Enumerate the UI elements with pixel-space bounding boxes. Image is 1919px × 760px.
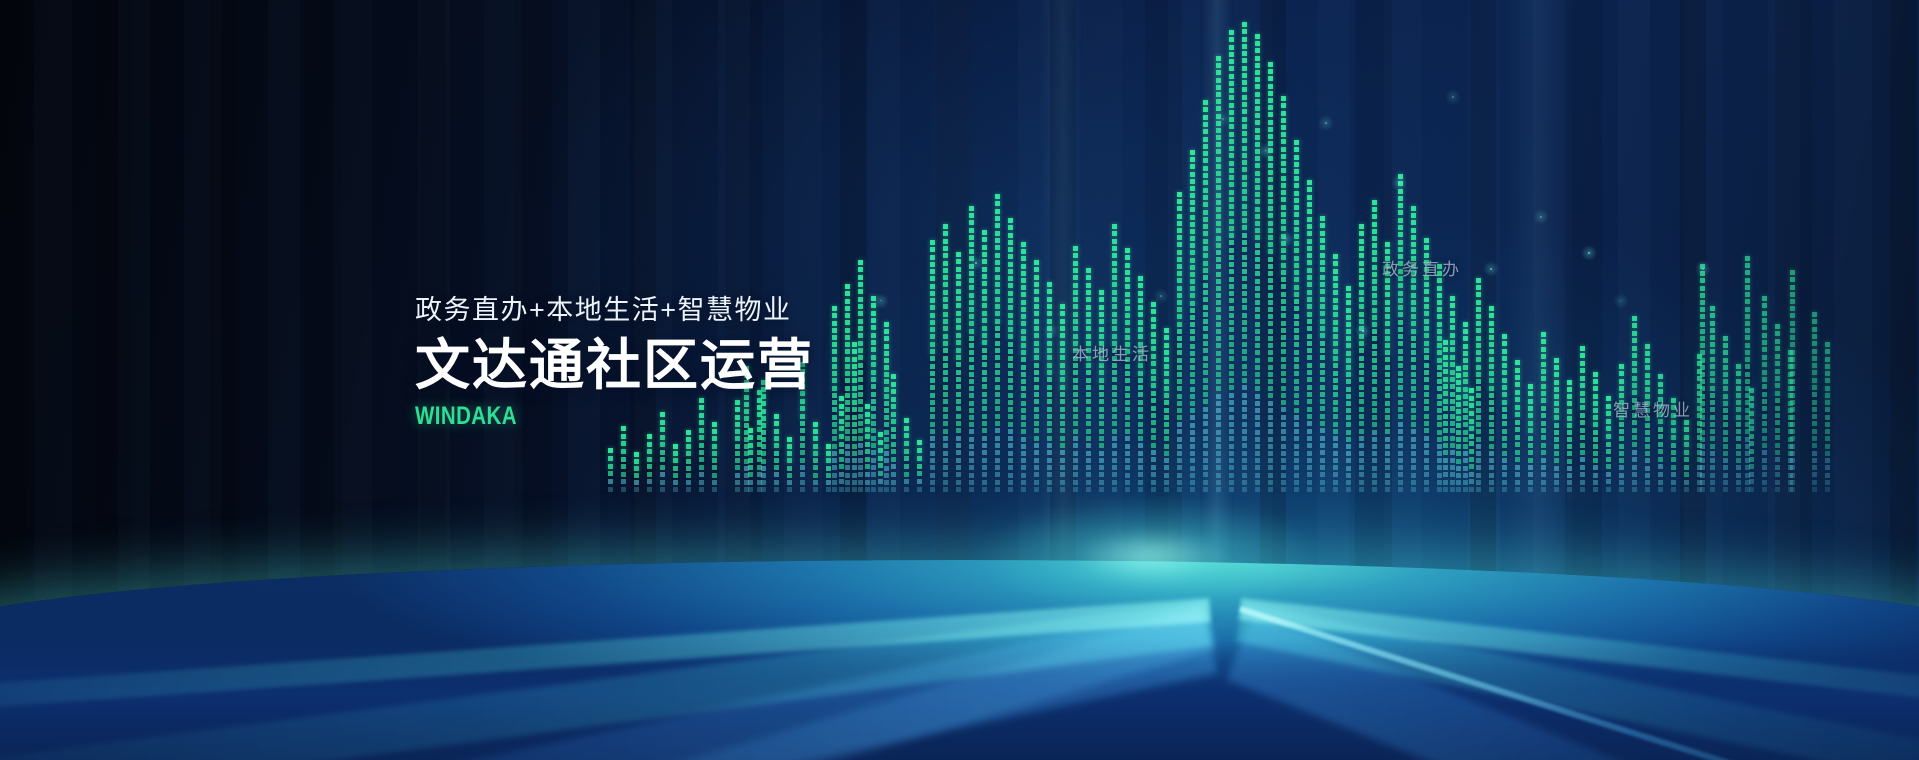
skyline-column xyxy=(1177,192,1186,492)
skyline-column xyxy=(647,434,656,492)
skyline-column xyxy=(1398,174,1407,492)
skyline-column xyxy=(956,252,965,492)
promo-banner: 政务直办+本地生活+智慧物业 文达通社区运营 WINDAKA 政务直办本地生活智… xyxy=(0,0,1919,760)
page-title: 文达通社区运营 xyxy=(415,336,814,395)
skyline-column xyxy=(832,306,841,492)
skyline-column xyxy=(1255,34,1264,492)
skyline-column xyxy=(1359,224,1368,492)
skyline-column xyxy=(858,260,867,492)
skyline-column xyxy=(1307,180,1316,492)
city-label-2: 本地生活 xyxy=(1072,340,1152,365)
skyline-column xyxy=(1138,276,1147,492)
skyline-column xyxy=(1294,140,1303,492)
skyline-column xyxy=(1762,296,1771,492)
skyline-column xyxy=(969,206,978,492)
skyline-column xyxy=(1242,22,1251,492)
skyline-column xyxy=(1736,364,1745,492)
ground-lower-fade xyxy=(0,640,1919,760)
skyline-column xyxy=(1216,56,1225,492)
skyline-column xyxy=(608,448,617,492)
skyline-column xyxy=(1268,62,1277,492)
skyline-column xyxy=(1790,270,1799,492)
skyline-column xyxy=(943,224,952,492)
skyline-column xyxy=(1812,312,1821,492)
skyline-column xyxy=(787,437,796,492)
brand-wordmark: WINDAKA xyxy=(415,402,742,431)
subtitle: 政务直办+本地生活+智慧物业 xyxy=(415,288,814,327)
skyline-column xyxy=(1541,332,1550,492)
city-label-1: 政务直办 xyxy=(1382,255,1462,280)
skyline-column xyxy=(1021,242,1030,492)
skyline-column xyxy=(1190,150,1199,492)
skyline-column xyxy=(871,296,880,492)
skyline-column xyxy=(982,230,991,492)
skyline-column xyxy=(1047,282,1056,492)
skyline-column xyxy=(1099,290,1108,492)
skyline-column xyxy=(1203,100,1212,492)
skyline-column xyxy=(1469,388,1478,492)
skyline-column xyxy=(917,440,926,492)
skyline-column xyxy=(1528,384,1537,492)
skyline-column xyxy=(1700,264,1709,492)
skyline-column xyxy=(930,240,939,492)
skyline-column xyxy=(1164,328,1173,492)
skyline-column xyxy=(904,418,913,492)
skyline-column xyxy=(621,426,630,492)
skyline-column xyxy=(1515,360,1524,492)
skyline-column xyxy=(634,452,643,492)
skyline-column xyxy=(1658,374,1667,492)
skyline-column xyxy=(1775,324,1784,492)
skyline-column xyxy=(1034,260,1043,492)
skyline-column xyxy=(1723,336,1732,492)
skyline-column xyxy=(1825,342,1834,492)
skyline-column xyxy=(845,284,854,492)
skyline-column xyxy=(995,194,1004,492)
skyline-column xyxy=(1346,286,1355,492)
skyline-column xyxy=(1489,306,1498,492)
skyline-column xyxy=(1456,366,1465,492)
skyline-column xyxy=(1281,96,1290,492)
skyline-column xyxy=(1567,380,1576,492)
skyline-column xyxy=(1554,358,1563,492)
skyline-column xyxy=(1320,216,1329,492)
skyline-column xyxy=(1229,30,1238,492)
city-label-3: 智慧物业 xyxy=(1613,396,1693,421)
skyline-column xyxy=(1151,302,1160,492)
skyline-column xyxy=(813,422,822,492)
skyline-column xyxy=(1411,206,1420,492)
skyline-column xyxy=(673,444,682,492)
dotted-skyline-chart xyxy=(0,0,1919,640)
skyline-column xyxy=(686,430,695,492)
skyline-column xyxy=(1745,256,1754,492)
skyline-column xyxy=(1502,334,1511,492)
skyline-column xyxy=(1684,420,1693,492)
skyline-column xyxy=(1008,218,1017,492)
skyline-column xyxy=(1443,340,1452,492)
skyline-column xyxy=(1710,306,1719,492)
skyline-column xyxy=(1073,246,1082,492)
skyline-column xyxy=(1125,248,1134,492)
skyline-column xyxy=(1333,254,1342,492)
skyline-column xyxy=(1372,200,1381,492)
skyline-column xyxy=(1580,346,1589,492)
skyline-column xyxy=(884,322,893,492)
skyline-column xyxy=(1619,364,1628,492)
skyline-column xyxy=(712,422,721,492)
skyline-column xyxy=(1060,304,1069,492)
headline-block: 政务直办+本地生活+智慧物业 文达通社区运营 WINDAKA xyxy=(415,288,814,431)
skyline-column xyxy=(1086,268,1095,492)
skyline-column xyxy=(1593,372,1602,492)
